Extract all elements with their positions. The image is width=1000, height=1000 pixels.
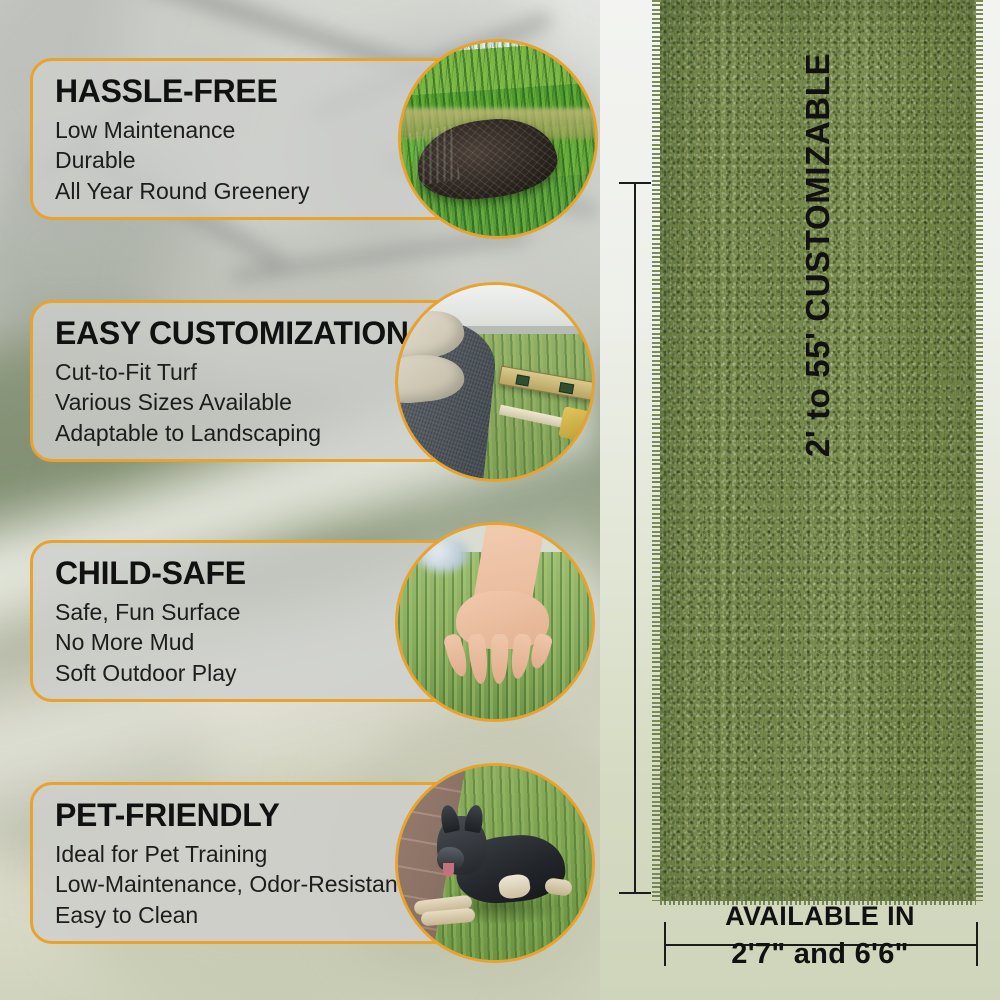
length-dimension-label: 2' to 55' CUSTOMIZABLE: [795, 25, 841, 485]
turf-cross-section-photo: [398, 39, 598, 239]
dog-on-turf-photo: [395, 763, 595, 963]
infographic-canvas: 2' to 55' CUSTOMIZABLE AVAILABLE IN 2'7"…: [0, 0, 1000, 1000]
feature-bullet: All Year Round Greenery: [55, 176, 459, 207]
width-dimension-label-line1: AVAILABLE IN: [640, 903, 1000, 930]
child-hand-on-turf-photo: [395, 522, 595, 722]
turf-installation-photo: [395, 282, 595, 482]
feature-title-1: HASSLE-FREE: [55, 75, 459, 109]
width-dimension-label: AVAILABLE IN 2'7" and 6'6": [640, 903, 1000, 969]
length-dimension-cap-bottom: [619, 892, 651, 894]
length-dimension-line: [634, 182, 636, 894]
width-dimension-label-line2: 2'7" and 6'6": [640, 940, 1000, 969]
